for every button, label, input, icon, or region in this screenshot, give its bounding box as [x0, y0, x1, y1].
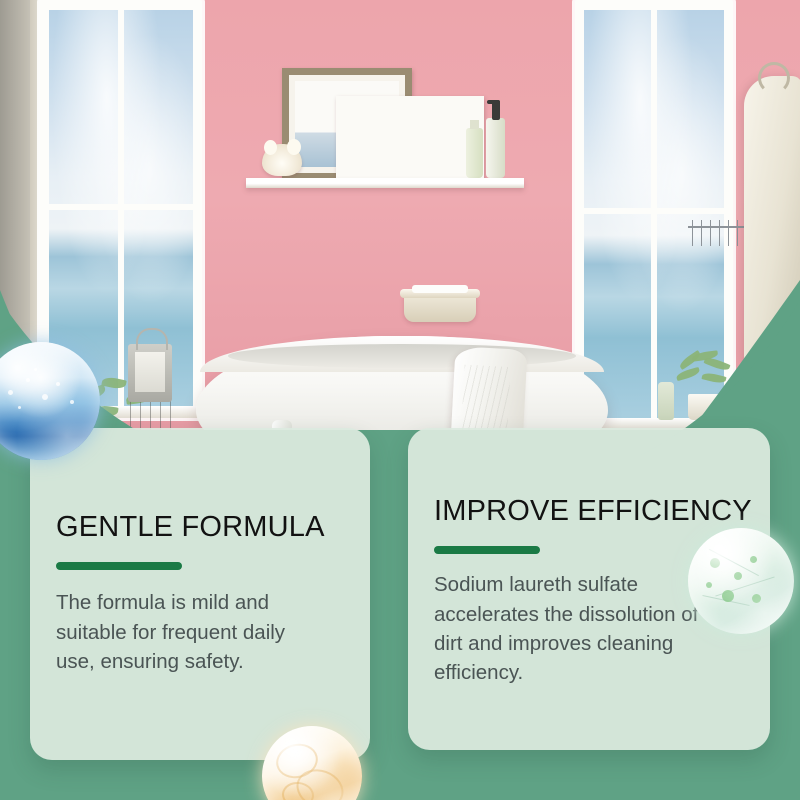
card-headline: IMPROVE EFFICIENCY — [434, 496, 744, 526]
card-body-text: The formula is mild and suitable for fre… — [56, 588, 322, 676]
leaf-molecule-icon — [688, 528, 794, 634]
infographic-canvas: GENTLE FORMULA The formula is mild and s… — [0, 0, 800, 800]
accent-underline — [434, 546, 540, 554]
benefit-card-gentle-formula[interactable]: GENTLE FORMULA The formula is mild and s… — [30, 428, 370, 760]
accent-underline — [56, 562, 182, 570]
card-body-text: Sodium laureth sulfate accelerates the d… — [434, 570, 718, 687]
card-headline: GENTLE FORMULA — [56, 512, 344, 542]
